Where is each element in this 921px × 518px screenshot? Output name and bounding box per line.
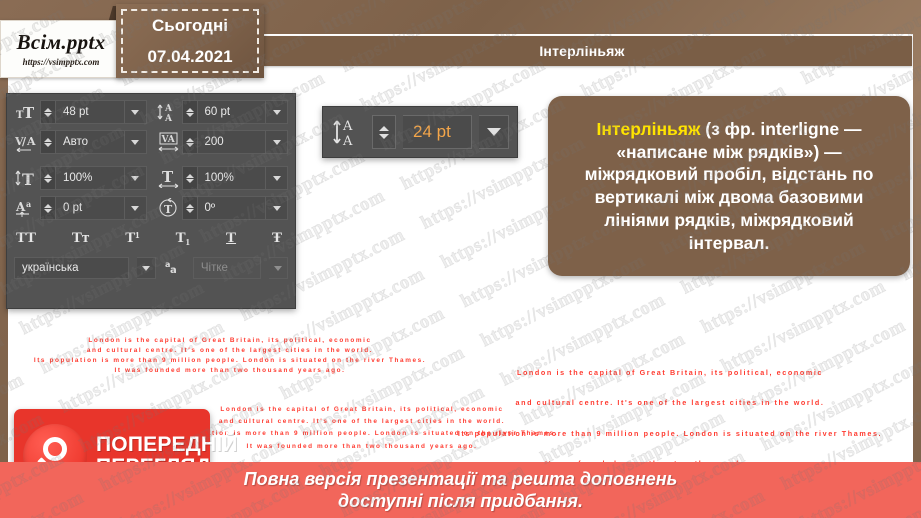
font-size-icon: TT xyxy=(14,100,40,124)
date-badge-date: 07.04.2021 xyxy=(147,48,232,65)
logo-url: https://vsimpptx.com xyxy=(23,57,100,67)
small-caps-icon[interactable]: Tт xyxy=(72,230,89,247)
character-panel-row: Aa 0 pt T 0º xyxy=(14,196,288,220)
strikethrough-icon[interactable]: Ŧ xyxy=(272,230,282,247)
baseline-shift-dropdown-icon[interactable] xyxy=(125,196,147,220)
slide: https://vsimpptx.com https://vsimpptx.co… xyxy=(0,0,921,518)
language-row: українська aa Чітке xyxy=(14,257,288,279)
sample-line: and cultural centre. It's one of the lar… xyxy=(420,388,920,418)
purchase-banner: Повна версія презентації та решта доповн… xyxy=(0,462,921,518)
leading-value-input[interactable]: 24 pt xyxy=(403,115,472,149)
character-rotation-icon: T xyxy=(156,196,182,220)
svg-text:A: A xyxy=(26,135,36,148)
baseline-shift-input[interactable]: 0 pt xyxy=(55,196,125,220)
leading-icon: AA xyxy=(156,100,182,124)
leading-callout[interactable]: AA 24 pt xyxy=(322,106,518,158)
kerning-icon: V/A xyxy=(14,130,40,154)
title-bar: Інтерліньяж xyxy=(252,36,912,66)
kerning-input[interactable]: Авто xyxy=(55,130,125,154)
character-panel[interactable]: TT 48 pt AA 60 pt V/A Авто xyxy=(6,93,296,309)
svg-text:A: A xyxy=(164,104,173,114)
baseline-shift-icon: Aa xyxy=(14,196,40,220)
svg-text:VA: VA xyxy=(160,135,175,145)
vertical-scale-icon: T xyxy=(14,166,40,190)
horizontal-scale-control[interactable]: T 100% xyxy=(156,166,289,190)
definition-term: Інтерліньяж xyxy=(596,119,700,139)
banner-line2: доступні після придбання. xyxy=(338,490,583,513)
sample-line: Its population is more than 9 million pe… xyxy=(420,419,920,449)
vertical-scale-control[interactable]: T 100% xyxy=(14,166,147,190)
leading-dropdown-icon[interactable] xyxy=(479,115,509,149)
horizontal-scale-input[interactable]: 100% xyxy=(197,166,267,190)
language-dropdown-icon[interactable] xyxy=(137,257,156,279)
leading-control[interactable]: AA 60 pt xyxy=(156,100,289,124)
aa-icon: aa xyxy=(164,259,185,278)
vertical-scale-dropdown-icon[interactable] xyxy=(125,166,147,190)
definition-text: Інтерліньяж (з фр. interligne — «написан… xyxy=(562,118,896,255)
character-panel-row: T 100% T 100% xyxy=(14,166,288,190)
font-size-dropdown-icon[interactable] xyxy=(125,100,147,124)
svg-text:T: T xyxy=(22,170,34,188)
tracking-dropdown-icon[interactable] xyxy=(266,130,288,154)
vertical-scale-input[interactable]: 100% xyxy=(55,166,125,190)
kerning-dropdown-icon[interactable] xyxy=(125,130,147,154)
sample-line: and cultural centre. It's one of the lar… xyxy=(20,346,440,356)
character-rotation-stepper[interactable] xyxy=(182,196,197,220)
character-rotation-input[interactable]: 0º xyxy=(197,196,267,220)
kerning-stepper[interactable] xyxy=(40,130,55,154)
sample-line: It was founded more than two thousand ye… xyxy=(20,366,440,376)
date-badge: Сьогодні 07.04.2021 xyxy=(116,4,264,78)
tracking-icon: VA xyxy=(156,130,182,154)
preview-badge-line1: ПОПЕРЕДНІЙ xyxy=(96,434,238,455)
vertical-scale-stepper[interactable] xyxy=(40,166,55,190)
definition-box: Інтерліньяж (з фр. interligne — «написан… xyxy=(548,96,910,276)
superscript-icon[interactable]: T¹ xyxy=(125,230,140,247)
date-badge-label: Сьогодні xyxy=(152,17,228,34)
tracking-stepper[interactable] xyxy=(182,130,197,154)
svg-text:T: T xyxy=(23,104,35,121)
sample-line: London is the capital of Great Britain, … xyxy=(420,358,920,388)
svg-text:a: a xyxy=(26,199,31,209)
leading-stepper[interactable] xyxy=(182,100,197,124)
horizontal-scale-icon: T xyxy=(156,166,182,190)
kerning-control[interactable]: V/A Авто xyxy=(14,130,147,154)
svg-text:T: T xyxy=(164,203,173,216)
horizontal-scale-stepper[interactable] xyxy=(182,166,197,190)
tracking-control[interactable]: VA 200 xyxy=(156,130,289,154)
leading-stepper[interactable] xyxy=(372,115,396,149)
svg-text:a: a xyxy=(170,265,177,275)
character-panel-row: V/A Авто VA 200 xyxy=(14,130,288,154)
horizontal-scale-dropdown-icon[interactable] xyxy=(266,166,288,190)
sample-text-wide: London is the capital of Great Britain, … xyxy=(420,358,920,479)
character-rotation-control[interactable]: T 0º xyxy=(156,196,289,220)
logo-title: Всім.pptx xyxy=(17,32,106,53)
font-size-input[interactable]: 48 pt xyxy=(55,100,125,124)
language-select[interactable]: українська xyxy=(14,257,129,279)
svg-text:A: A xyxy=(342,119,353,134)
logo: Всім.pptx https://vsimpptx.com xyxy=(0,20,122,78)
baseline-shift-stepper[interactable] xyxy=(40,196,55,220)
text-style-buttons: TT Tт T¹ T₁ T Ŧ xyxy=(14,226,288,251)
svg-text:A: A xyxy=(342,134,353,147)
subscript-icon[interactable]: T₁ xyxy=(176,230,191,247)
font-size-control[interactable]: TT 48 pt xyxy=(14,100,147,124)
character-panel-row: TT 48 pt AA 60 pt xyxy=(14,100,288,124)
page-title: Інтерліньяж xyxy=(539,43,624,59)
svg-text:A: A xyxy=(164,114,173,122)
sample-line: London is the capital of Great Britain, … xyxy=(20,336,440,346)
antialias-dropdown-icon[interactable] xyxy=(269,257,288,279)
svg-text:A: A xyxy=(15,200,26,214)
baseline-shift-control[interactable]: Aa 0 pt xyxy=(14,196,147,220)
svg-text:T: T xyxy=(162,168,174,186)
character-rotation-dropdown-icon[interactable] xyxy=(266,196,288,220)
font-size-stepper[interactable] xyxy=(40,100,55,124)
antialias-select[interactable]: Чітке xyxy=(193,257,261,279)
banner-line1: Повна версія презентації та решта доповн… xyxy=(244,468,678,491)
underline-icon[interactable]: T xyxy=(226,230,236,247)
all-caps-icon[interactable]: TT xyxy=(16,230,36,247)
leading-dropdown-icon[interactable] xyxy=(266,100,288,124)
sample-line: Its population is more than 9 million pe… xyxy=(20,356,440,366)
leading-input[interactable]: 60 pt xyxy=(197,100,267,124)
sample-text-tight: London is the capital of Great Britain, … xyxy=(20,336,440,376)
tracking-input[interactable]: 200 xyxy=(197,130,267,154)
leading-icon: AA xyxy=(331,117,365,147)
